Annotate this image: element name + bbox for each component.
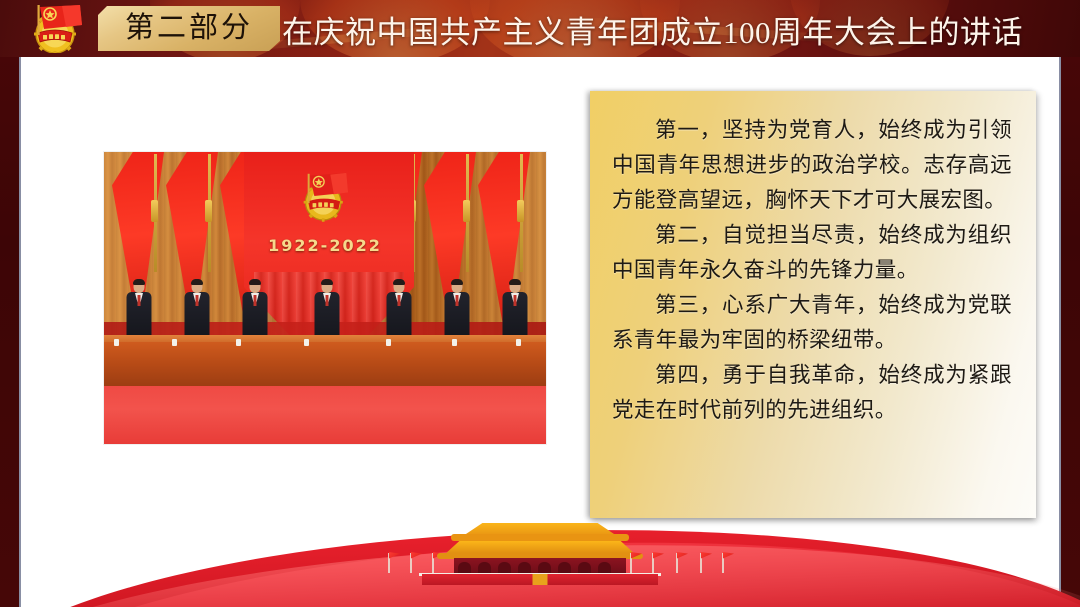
paragraph-3: 第三，心系广大青年，始终成为党联系青年最为牢固的桥梁纽带。	[612, 288, 1012, 358]
photo-teacup	[114, 339, 119, 346]
photo-teacup	[304, 339, 309, 346]
text-panel-body: 第一，坚持为党育人，始终成为引领中国青年思想进步的政治学校。志存高远方能登高望远…	[612, 113, 1012, 428]
photo-official	[502, 280, 528, 342]
paragraph-4: 第四，勇于自我革命，始终成为紧跟党走在时代前列的先进组织。	[612, 358, 1012, 428]
conference-photo: 1922-2022	[104, 152, 546, 444]
photo-flag-tassel	[463, 200, 470, 222]
tiananmen-gate-icon	[430, 523, 650, 585]
photo-teacup	[386, 339, 391, 346]
photo-anniversary-years: 1922-2022	[268, 236, 382, 255]
communist-youth-league-emblem-icon	[22, 3, 94, 53]
photo-official	[184, 280, 210, 342]
slide-footer-decoration	[0, 497, 1080, 607]
paragraph-1: 第一，坚持为党育人，始终成为引领中国青年思想进步的政治学校。志存高远方能登高望远…	[612, 113, 1012, 218]
photo-official	[242, 280, 268, 342]
photo-league-emblem-icon	[293, 166, 357, 226]
photo-official	[444, 280, 470, 342]
paragraph-2: 第二，自觉担当尽责，始终成为组织中国青年永久奋斗的先锋力量。	[612, 218, 1012, 288]
photo-official-center	[314, 280, 340, 342]
content-text-panel: 第一，坚持为党育人，始终成为引领中国青年思想进步的政治学校。志存高远方能登高望远…	[590, 91, 1036, 518]
photo-red-carpet	[104, 386, 546, 444]
chapter-tab-label: 第二部分	[125, 14, 253, 43]
page-title: 在庆祝中国共产主义青年团成立100周年大会上的讲话	[282, 6, 1023, 52]
photo-teacup	[516, 339, 521, 346]
photo-official	[386, 280, 412, 342]
photo-flag-tassel	[517, 200, 524, 222]
photo-conference-table	[104, 342, 546, 386]
photo-flag-tassel	[151, 200, 158, 222]
chapter-tab[interactable]: 第二部分	[98, 6, 280, 51]
photo-teacup	[236, 339, 241, 346]
photo-teacup	[172, 339, 177, 346]
photo-flag-tassel	[205, 200, 212, 222]
photo-official	[126, 280, 152, 342]
photo-teacup	[452, 339, 457, 346]
presentation-slide: 第二部分 在庆祝中国共产主义青年团成立100周年大会上的讲话	[0, 0, 1080, 607]
